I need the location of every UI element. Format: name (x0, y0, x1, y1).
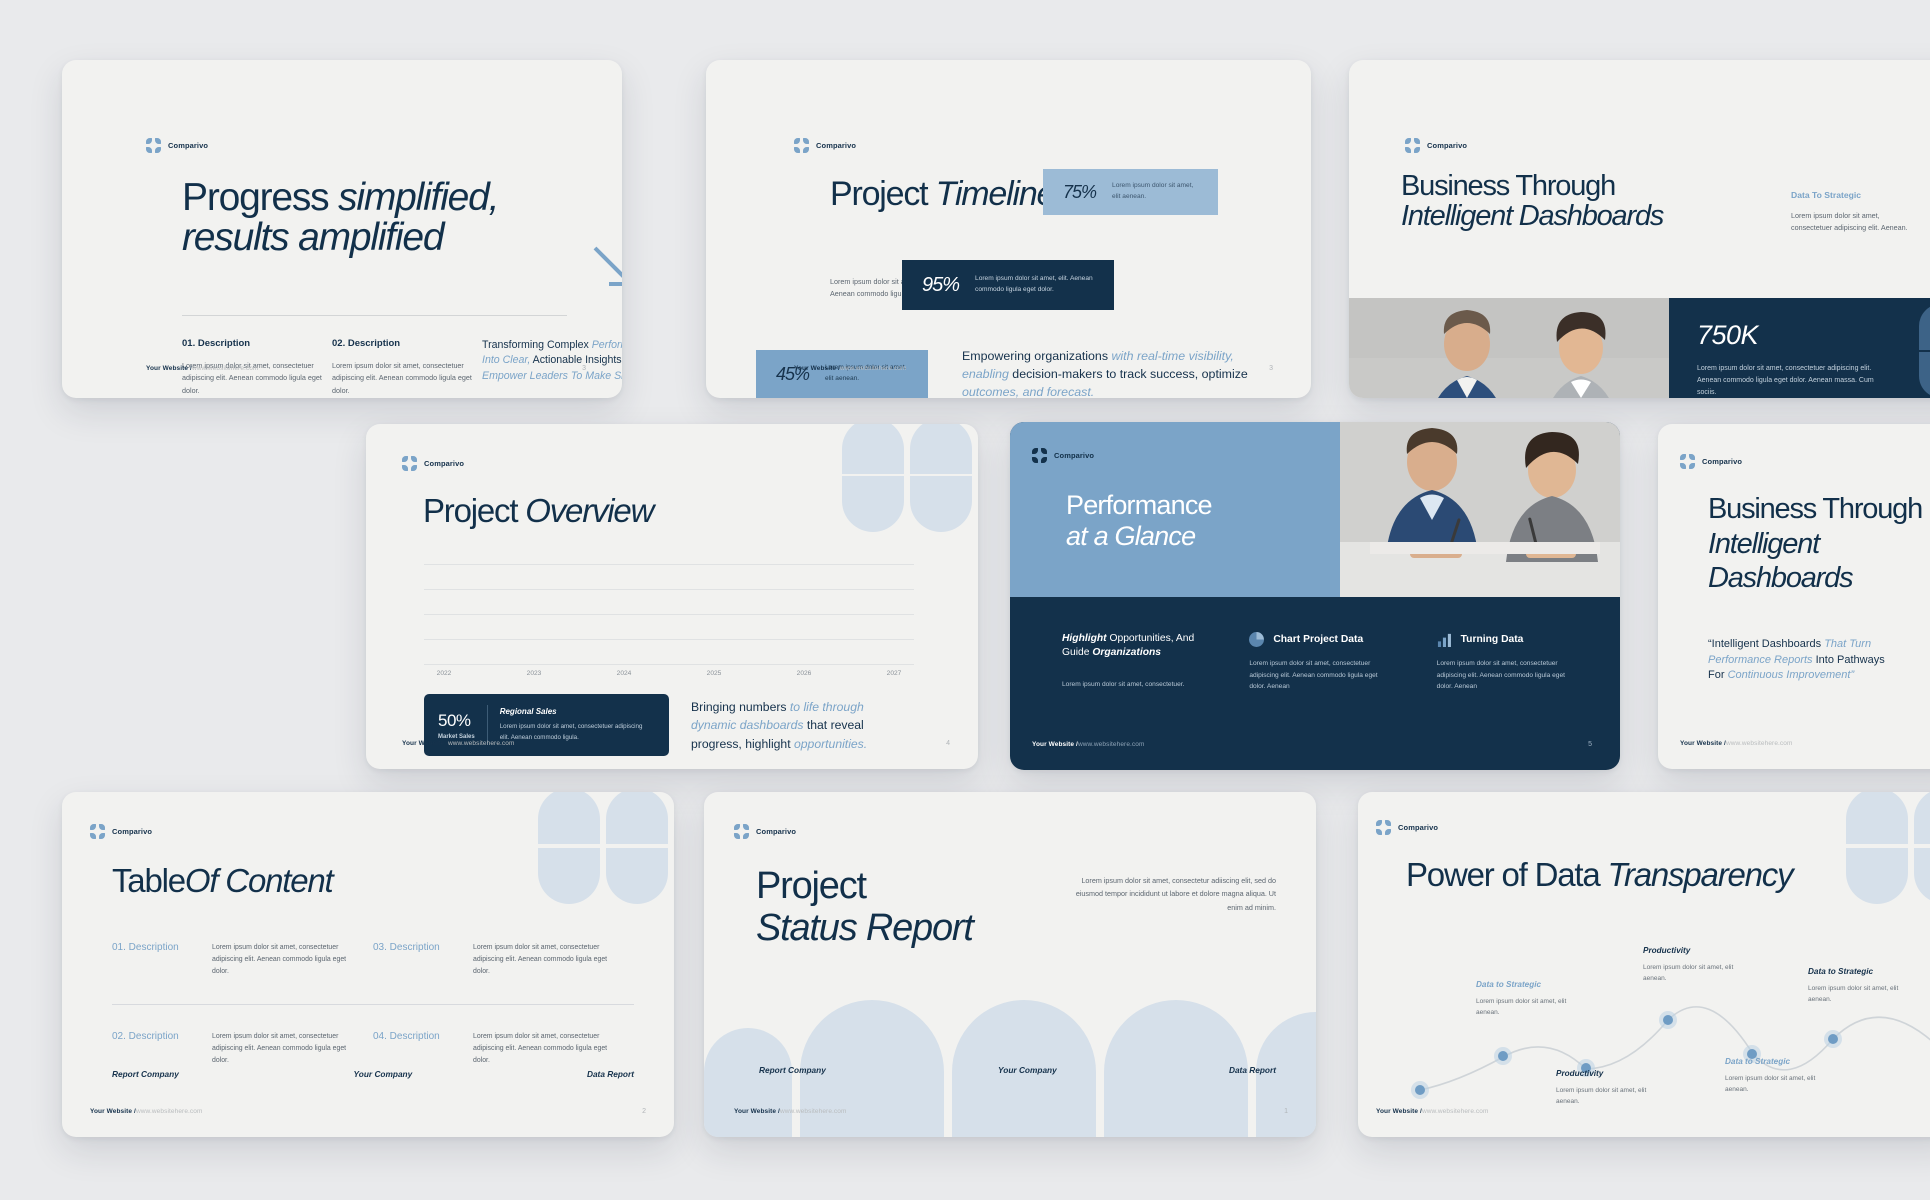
logo-icon (1680, 454, 1695, 469)
feature-header: Turning Data (1437, 632, 1580, 647)
annotation-title: Productivity (1643, 946, 1743, 955)
feature-columns: Highlight Opportunities, And Guide Organ… (1062, 632, 1580, 693)
title-italic-2: results amplified (182, 216, 443, 259)
feature-title: Chart Project Data (1273, 634, 1363, 645)
x-tick: 2022 (424, 670, 464, 677)
logo-icon (1032, 448, 1047, 463)
footer: Your Website /www.websitehere.com (1376, 1108, 1489, 1115)
supporting-statement: Bringing numbers to life through dynamic… (691, 698, 906, 753)
stat-value: 75% (1063, 182, 1096, 203)
page-number: 3 (582, 365, 586, 372)
logo-icon (402, 456, 417, 471)
footer-url: www.websitehere.com (1726, 740, 1793, 747)
intro-paragraph: Lorem ipsum dolor sit amet, consectetur … (1071, 874, 1276, 914)
footer-url: www.websitehere.com (192, 365, 259, 372)
chart-x-axis-labels: 2022 2023 2024 2025 2026 2027 (424, 670, 914, 677)
brand-name: Comparivo (424, 459, 464, 468)
footer: Your Website /www.websitehere.com (734, 1108, 847, 1115)
slide-project-timeline[interactable]: Comparivo Project Timeline Lorem ipsum d… (706, 60, 1311, 398)
brand-name: Comparivo (816, 141, 856, 150)
title-plain: Project (756, 865, 866, 907)
logo-icon (734, 824, 749, 839)
feature-body: Lorem ipsum dolor sit amet, consectetuer… (1249, 658, 1392, 693)
toc-item-01[interactable]: 01. Description Lorem ipsum dolor sit am… (112, 942, 373, 978)
title-italic: Status Report (756, 907, 973, 949)
side-note-heading: Data To Strategic (1791, 190, 1911, 200)
toc-item-03[interactable]: 03. Description Lorem ipsum dolor sit am… (373, 942, 634, 978)
feature-chart-project-data: Chart Project Data Lorem ipsum dolor sit… (1249, 632, 1392, 693)
annotation-body: Lorem ipsum dolor sit amet, elit aenean. (1643, 962, 1743, 984)
brand-lockup: Comparivo (402, 456, 464, 471)
annotation-3: Productivity Lorem ipsum dolor sit amet,… (1556, 1069, 1656, 1107)
pitch-plain-2: Actionable Insights That (530, 354, 622, 366)
footer: Your Website /www.websitehere.com (90, 1108, 203, 1115)
footer-label: Your Website / (146, 365, 192, 372)
logo-icon (146, 138, 161, 153)
supporting-statement: Empowering organizations with real-time … (962, 348, 1262, 398)
toc-item-04[interactable]: 04. Description Lorem ipsum dolor sit am… (373, 1031, 634, 1067)
annotation-body: Lorem ipsum dolor sit amet, elit aenean. (1725, 1073, 1825, 1095)
title-plain: Power of Data (1406, 856, 1607, 893)
quote-plain-1: “Intelligent Dashboards (1708, 638, 1824, 650)
feature-title-italic-2: Organizations (1092, 647, 1161, 658)
brand-name: Comparivo (1702, 457, 1742, 466)
line-chart: Data to Strategic Lorem ipsum dolor sit … (1358, 922, 1930, 1112)
column-label: 01. Description (182, 338, 332, 349)
pitch-plain-1: Transforming Complex (482, 339, 592, 351)
slide-business-through-dashboards[interactable]: Comparivo Business Through Intelligent D… (1349, 60, 1930, 398)
kpi-value: 750K (1697, 320, 1887, 351)
decor-petals (538, 792, 674, 910)
pie-chart-icon (1249, 632, 1264, 647)
toc-value: Lorem ipsum dolor sit amet, consectetuer… (473, 942, 623, 978)
arrow-down-right-icon (587, 240, 622, 298)
toc-key: 02. Description (112, 1031, 212, 1067)
brand-name: Comparivo (1054, 451, 1094, 460)
footer: Your Website /www.websitehere.com (1680, 740, 1793, 747)
decor-petals (842, 424, 978, 538)
annotation-title: Data to Strategic (1808, 967, 1908, 976)
footer-url: www.websitehere.com (1078, 741, 1145, 748)
slide-progress-simplified[interactable]: Comparivo Progress simplified, results a… (62, 60, 622, 398)
footer-label: Your Website / (734, 1108, 780, 1115)
title-italic: Transparency (1607, 856, 1792, 893)
statement-italic-2: outcomes, and forecast. (962, 385, 1094, 398)
page-number: 3 (1269, 365, 1273, 372)
company-names-row: Report Company Your Company Data Report (112, 1069, 634, 1079)
footer-url: www.websitehere.com (136, 1108, 203, 1115)
brand-name: Comparivo (168, 141, 208, 150)
page-title: TableOf Content (112, 864, 333, 898)
feature-title-italic-1: Highlight (1062, 633, 1107, 644)
footer: Your Website /www.websitehere.com (794, 365, 907, 372)
bar-chart-icon (1437, 632, 1452, 647)
slide-project-status-report[interactable]: Comparivo Project Status Report Lorem ip… (704, 792, 1316, 1137)
page-number: 5 (1588, 741, 1592, 748)
annotation-body: Lorem ipsum dolor sit amet, elit aenean. (1476, 996, 1576, 1018)
kpi-value: 50% (438, 711, 475, 731)
footer-label: Your Website / (1032, 741, 1078, 748)
page-title: Power of Data Transparency (1406, 858, 1792, 892)
title-italic: Timeline (936, 175, 1055, 213)
x-tick: 2027 (874, 670, 914, 677)
x-tick: 2024 (604, 670, 644, 677)
name-report-company: Report Company (759, 1065, 826, 1075)
title-italic-2: Dashboards (1708, 562, 1852, 594)
footer-label: Your Website / (1680, 740, 1726, 747)
pitch-italic-2: Empower Leaders To Make Smarter (482, 370, 622, 382)
divider (182, 315, 567, 316)
brand-name: Comparivo (112, 827, 152, 836)
page-number: 1 (1284, 1108, 1288, 1115)
pitch-statement: Transforming Complex Performance Data In… (482, 338, 622, 384)
title-plain: Business Through (1401, 170, 1615, 202)
page-title: Project Overview (423, 494, 653, 528)
brand-lockup: Comparivo (1032, 448, 1094, 463)
toc-key: 04. Description (373, 1031, 473, 1067)
slide-project-overview[interactable]: Comparivo Project Overview 2022 2023 202… (366, 424, 978, 769)
data-point (1498, 1051, 1508, 1061)
page-title: Business Through Intelligent Dashboards (1401, 172, 1791, 232)
logo-icon (794, 138, 809, 153)
title-italic: Overview (525, 492, 653, 529)
feature-turning-data: Turning Data Lorem ipsum dolor sit amet,… (1437, 632, 1580, 693)
toc-value: Lorem ipsum dolor sit amet, consectetuer… (473, 1031, 623, 1067)
feature-highlight: Highlight Opportunities, And Guide Organ… (1062, 632, 1205, 693)
annotation-4: Data to Strategic Lorem ipsum dolor sit … (1725, 1057, 1825, 1095)
feature-body: Lorem ipsum dolor sit amet, consectetuer… (1437, 658, 1580, 693)
brand-lockup: Comparivo (1405, 138, 1467, 153)
stat-value: 95% (922, 274, 959, 297)
toc-row: 01. Description Lorem ipsum dolor sit am… (112, 942, 634, 978)
stat-text: Lorem ipsum dolor sit amet, elit. Aenean… (975, 274, 1094, 295)
photo-team-working (1340, 422, 1620, 597)
toc-row: 02. Description Lorem ipsum dolor sit am… (112, 1031, 634, 1067)
footer-label: Your Website / (90, 1108, 136, 1115)
title-italic: Of Content (185, 862, 333, 899)
footer-label: Your Website / (1376, 1108, 1422, 1115)
footer-label: Your Website / (794, 365, 840, 372)
kpi-left: 50% Market Sales (438, 711, 475, 740)
footer-url: www.websitehere.com (448, 740, 515, 747)
quote-block: “Intelligent Dashboards That Turn Perfor… (1708, 637, 1903, 684)
title-italic-1: Intelligent (1708, 528, 1819, 560)
logo-icon (1405, 138, 1420, 153)
title-italic: Intelligent Dashboards (1401, 200, 1663, 232)
brand-lockup: Comparivo (146, 138, 208, 153)
bar-chart (424, 564, 914, 664)
kpi-text: Lorem ipsum dolor sit amet, consectetuer… (1697, 363, 1887, 398)
footer-url: www.websitehere.com (780, 1108, 847, 1115)
slide-deck-canvas: Comparivo Progress simplified, results a… (0, 0, 1930, 1200)
page-title: Project Timeline (830, 177, 1054, 212)
name-your-company: Your Company (354, 1069, 413, 1079)
feature-title: Turning Data (1461, 634, 1524, 645)
statement-plain-2: decision-makers to track success, optimi… (1009, 367, 1248, 381)
title-plain: Performance (1066, 490, 1212, 520)
divider (112, 1004, 634, 1005)
column-label: 02. Description (332, 338, 482, 349)
annotation-title: Data to Strategic (1725, 1057, 1825, 1066)
annotation-1: Data to Strategic Lorem ipsum dolor sit … (1476, 980, 1576, 1018)
slide-power-of-data-transparency[interactable]: Comparivo Power of Data Transparency Dat… (1358, 792, 1930, 1137)
footer-url: www.websitehere.com (840, 365, 907, 372)
stat-card-75: 75% Lorem ipsum dolor sit amet, elit aen… (1043, 169, 1218, 215)
brand-lockup: Comparivo (794, 138, 856, 153)
toc-value: Lorem ipsum dolor sit amet, consectetuer… (212, 942, 362, 978)
name-data-report: Data Report (587, 1069, 634, 1079)
brand-lockup: Comparivo (90, 824, 152, 839)
annotation-2: Productivity Lorem ipsum dolor sit amet,… (1643, 946, 1743, 984)
kpi-body: Lorem ipsum dolor sit amet, consectetuer… (500, 722, 650, 742)
page-title: Progress simplified, results amplified (182, 178, 622, 258)
statement-italic-2: opportunities. (794, 737, 867, 751)
toc-value: Lorem ipsum dolor sit amet, consectetuer… (212, 1031, 362, 1067)
stat-text: Lorem ipsum dolor sit amet, elit aenean. (1112, 181, 1198, 202)
footer: Your Website /www.websitehere.com (1032, 741, 1145, 748)
slide-table-of-content[interactable]: Comparivo TableOf Content 01. Descriptio… (62, 792, 674, 1137)
annotation-title: Data to Strategic (1476, 980, 1576, 989)
footer: Your Website /www.websitehere.com (402, 740, 515, 747)
annotation-5: Data to Strategic Lorem ipsum dolor sit … (1808, 967, 1908, 1005)
chart-bars (424, 564, 914, 664)
statement-plain-1: Empowering organizations (962, 349, 1111, 363)
logo-icon (1376, 820, 1391, 835)
slide-performance-at-a-glance[interactable]: Comparivo Performance at a Glance Highli… (1010, 422, 1620, 770)
footer-label: Your Website / (402, 740, 448, 747)
brand-name: Comparivo (756, 827, 796, 836)
title-italic: at a Glance (1066, 521, 1195, 551)
description-column-2: 02. Description Lorem ipsum dolor sit am… (332, 338, 482, 397)
brand-lockup: Comparivo (1376, 820, 1438, 835)
divider (487, 705, 488, 745)
data-point (1415, 1085, 1425, 1095)
brand-name: Comparivo (1427, 141, 1467, 150)
feature-body: Lorem ipsum dolor sit amet, consectetuer… (1062, 679, 1205, 691)
page-title: Performance at a Glance (1066, 490, 1212, 552)
brand-lockup: Comparivo (734, 824, 796, 839)
annotation-body: Lorem ipsum dolor sit amet, elit aenean. (1556, 1085, 1656, 1107)
quote-italic-2: Continuous Improvement” (1728, 669, 1855, 681)
toc-grid: 01. Description Lorem ipsum dolor sit am… (112, 942, 634, 1067)
photo-business-meeting (1349, 298, 1669, 398)
stat-card-45: 45% Lorem ipsum dolor sit amet. elit aen… (756, 350, 928, 398)
kpi-panel: 750K Lorem ipsum dolor sit amet, consect… (1669, 298, 1930, 398)
kpi-right: Regional Sales Lorem ipsum dolor sit ame… (500, 707, 650, 742)
footer: Your Website /www.websitehere.com (146, 365, 259, 372)
data-point (1663, 1015, 1673, 1025)
decor-petals (1846, 792, 1930, 910)
title-plain: Project (830, 175, 936, 213)
brand-name: Comparivo (1398, 823, 1438, 832)
x-tick: 2025 (694, 670, 734, 677)
side-note-body: Lorem ipsum dolor sit amet, consectetuer… (1791, 210, 1911, 235)
toc-key: 01. Description (112, 942, 212, 978)
name-report-company: Report Company (112, 1069, 179, 1079)
slide-business-through-dashboards-alt[interactable]: Comparivo Business Through Intelligent D… (1658, 424, 1930, 769)
logo-icon (90, 824, 105, 839)
column-body: Lorem ipsum dolor sit amet, consectetuer… (332, 360, 482, 397)
annotation-body: Lorem ipsum dolor sit amet, elit aenean. (1808, 983, 1908, 1005)
name-data-report: Data Report (1229, 1065, 1276, 1075)
kpi-heading: Regional Sales (500, 707, 650, 716)
decor-petals (1919, 304, 1930, 398)
title-plain: Progress (182, 176, 338, 219)
page-number: 2 (642, 1108, 646, 1115)
toc-item-02[interactable]: 02. Description Lorem ipsum dolor sit am… (112, 1031, 373, 1067)
brand-lockup: Comparivo (1680, 454, 1742, 469)
side-note: Data To Strategic Lorem ipsum dolor sit … (1791, 190, 1911, 235)
kpi-sub: Market Sales (438, 734, 475, 740)
name-your-company: Your Company (998, 1065, 1057, 1075)
page-title: Project Status Report (756, 866, 973, 950)
title-plain: Project (423, 492, 525, 529)
page-number: 4 (946, 740, 950, 747)
annotation-title: Productivity (1556, 1069, 1656, 1078)
title-plain: Table (112, 862, 185, 899)
x-tick: 2023 (514, 670, 554, 677)
statement-plain-1: Bringing numbers (691, 700, 790, 714)
data-point (1828, 1034, 1838, 1044)
stat-card-95: 95% Lorem ipsum dolor sit amet, elit. Ae… (902, 260, 1114, 310)
footer-url: www.websitehere.com (1422, 1108, 1489, 1115)
feature-header: Chart Project Data (1249, 632, 1392, 647)
x-tick: 2026 (784, 670, 824, 677)
title-italic-1: simplified, (338, 176, 498, 219)
feature-title: Highlight Opportunities, And Guide Organ… (1062, 632, 1205, 661)
title-plain: Business Through (1708, 493, 1922, 525)
toc-key: 03. Description (373, 942, 473, 978)
company-names-row: Report Company Your Company Data Report (759, 1065, 1276, 1075)
page-title: Business Through Intelligent Dashboards (1708, 492, 1930, 596)
